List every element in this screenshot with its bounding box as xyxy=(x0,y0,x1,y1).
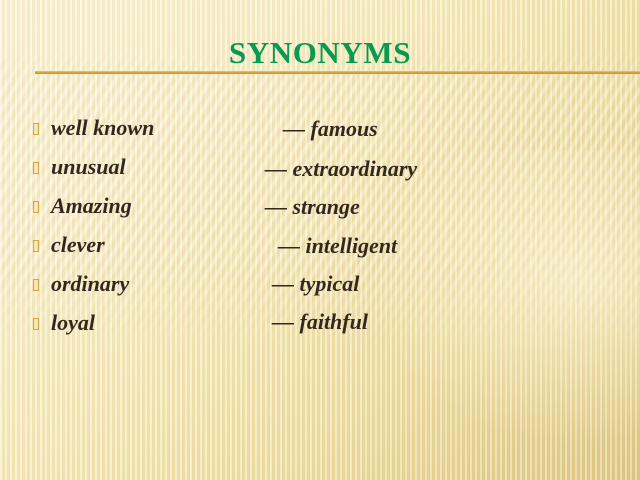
synonym-term: Amazing xyxy=(51,190,132,221)
synonym-match: — strange xyxy=(265,191,360,222)
bullet-box-icon xyxy=(33,279,39,291)
bullet-box-icon xyxy=(33,318,39,330)
synonym-term: unusual xyxy=(51,151,126,182)
synonym-list: well known — famous unusual — extraordin… xyxy=(0,112,640,346)
bullet-box-icon xyxy=(33,123,39,135)
synonym-match: — famous xyxy=(283,113,378,144)
list-item: Amazing — strange xyxy=(0,190,640,229)
list-item: loyal — faithful xyxy=(0,307,640,346)
page-title: SYNONYMS xyxy=(0,36,640,70)
synonym-term: well known xyxy=(51,112,154,143)
bullet-box-icon xyxy=(33,201,39,213)
synonym-match: — intelligent xyxy=(278,230,397,261)
list-item: unusual — extraordinary xyxy=(0,151,640,190)
synonym-term: ordinary xyxy=(51,268,129,299)
slide-canvas: SYNONYMS well known — famous unusual — e… xyxy=(0,0,640,480)
synonym-term: loyal xyxy=(51,307,95,338)
synonym-match: — faithful xyxy=(272,306,368,337)
bullet-box-icon xyxy=(33,162,39,174)
synonym-match: — typical xyxy=(272,268,359,299)
synonym-term: clever xyxy=(51,229,105,260)
list-item: well known — famous xyxy=(0,112,640,151)
list-item: ordinary — typical xyxy=(0,268,640,307)
title-underline-rule xyxy=(35,71,640,74)
synonym-match: — extraordinary xyxy=(265,153,417,184)
list-item: clever — intelligent xyxy=(0,229,640,268)
bullet-box-icon xyxy=(33,240,39,252)
title-block: SYNONYMS xyxy=(0,36,640,84)
